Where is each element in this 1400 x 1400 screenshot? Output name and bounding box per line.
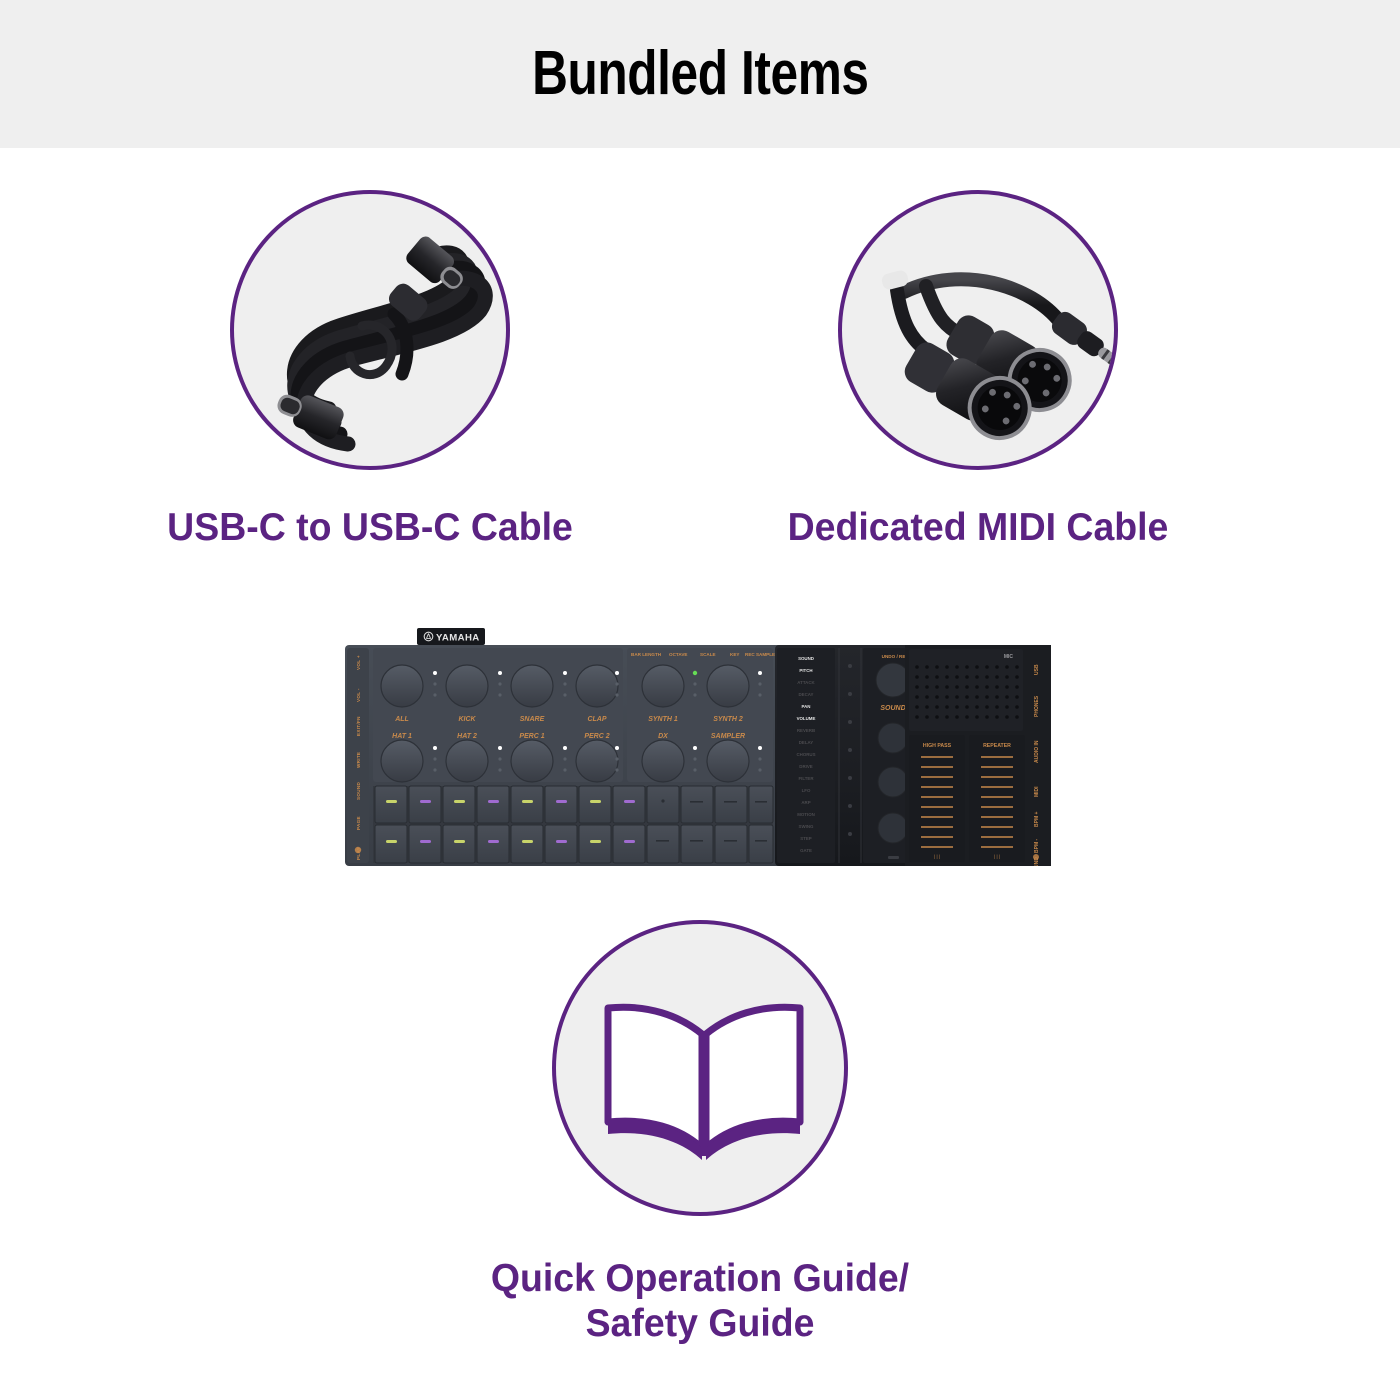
svg-text:HIGH PASS: HIGH PASS — [923, 743, 952, 749]
svg-text:USB: USB — [1034, 664, 1040, 675]
svg-text:MIDI: MIDI — [1034, 786, 1040, 797]
seqtrak-right-panel-group: MIC HIGH PASS | | | REPEATER — [905, 645, 1051, 866]
svg-text:PHONES: PHONES — [1034, 695, 1040, 717]
header-band: Bundled Items — [0, 0, 1400, 148]
bundled-item-usb-c-cable: USB-C to USB-C Cable — [150, 190, 590, 550]
svg-text:BPM -: BPM - — [1034, 839, 1040, 854]
midi-cable-circle — [838, 190, 1118, 470]
svg-text:| | |: | | | — [994, 854, 1000, 859]
guide-book-circle — [552, 920, 848, 1216]
bundled-item-guide-book: Quick Operation Guide/ Safety Guide — [468, 920, 932, 1346]
usb-c-cable-label: USB-C to USB-C Cable — [159, 505, 581, 550]
open-book-icon — [556, 924, 848, 1216]
guide-book-label-line2: Safety Guide — [477, 1301, 922, 1346]
svg-text:AUDIO IN: AUDIO IN — [1034, 740, 1040, 763]
midi-cable-label: Dedicated MIDI Cable — [767, 505, 1189, 550]
page-title: Bundled Items — [532, 43, 869, 105]
repeater-slider: REPEATER | | | — [969, 735, 1025, 862]
usb-c-cable-photo-icon — [234, 194, 510, 470]
guide-book-label-line1: Quick Operation Guide/ — [491, 1257, 909, 1300]
svg-text:| | |: | | | — [934, 854, 940, 859]
svg-text:BPM +: BPM + — [1034, 812, 1040, 828]
high-pass-slider: HIGH PASS | | | — [909, 735, 965, 862]
guide-book-label: Quick Operation Guide/ Safety Guide — [477, 1256, 922, 1346]
usb-c-cable-circle — [230, 190, 510, 470]
svg-text:REPEATER: REPEATER — [983, 743, 1011, 749]
midi-cable-photo-icon — [842, 194, 1118, 470]
bundled-item-midi-cable: Dedicated MIDI Cable — [758, 190, 1198, 550]
svg-text:MIC: MIC — [1004, 654, 1014, 660]
mic-speaker-grille: MIC — [909, 649, 1023, 731]
